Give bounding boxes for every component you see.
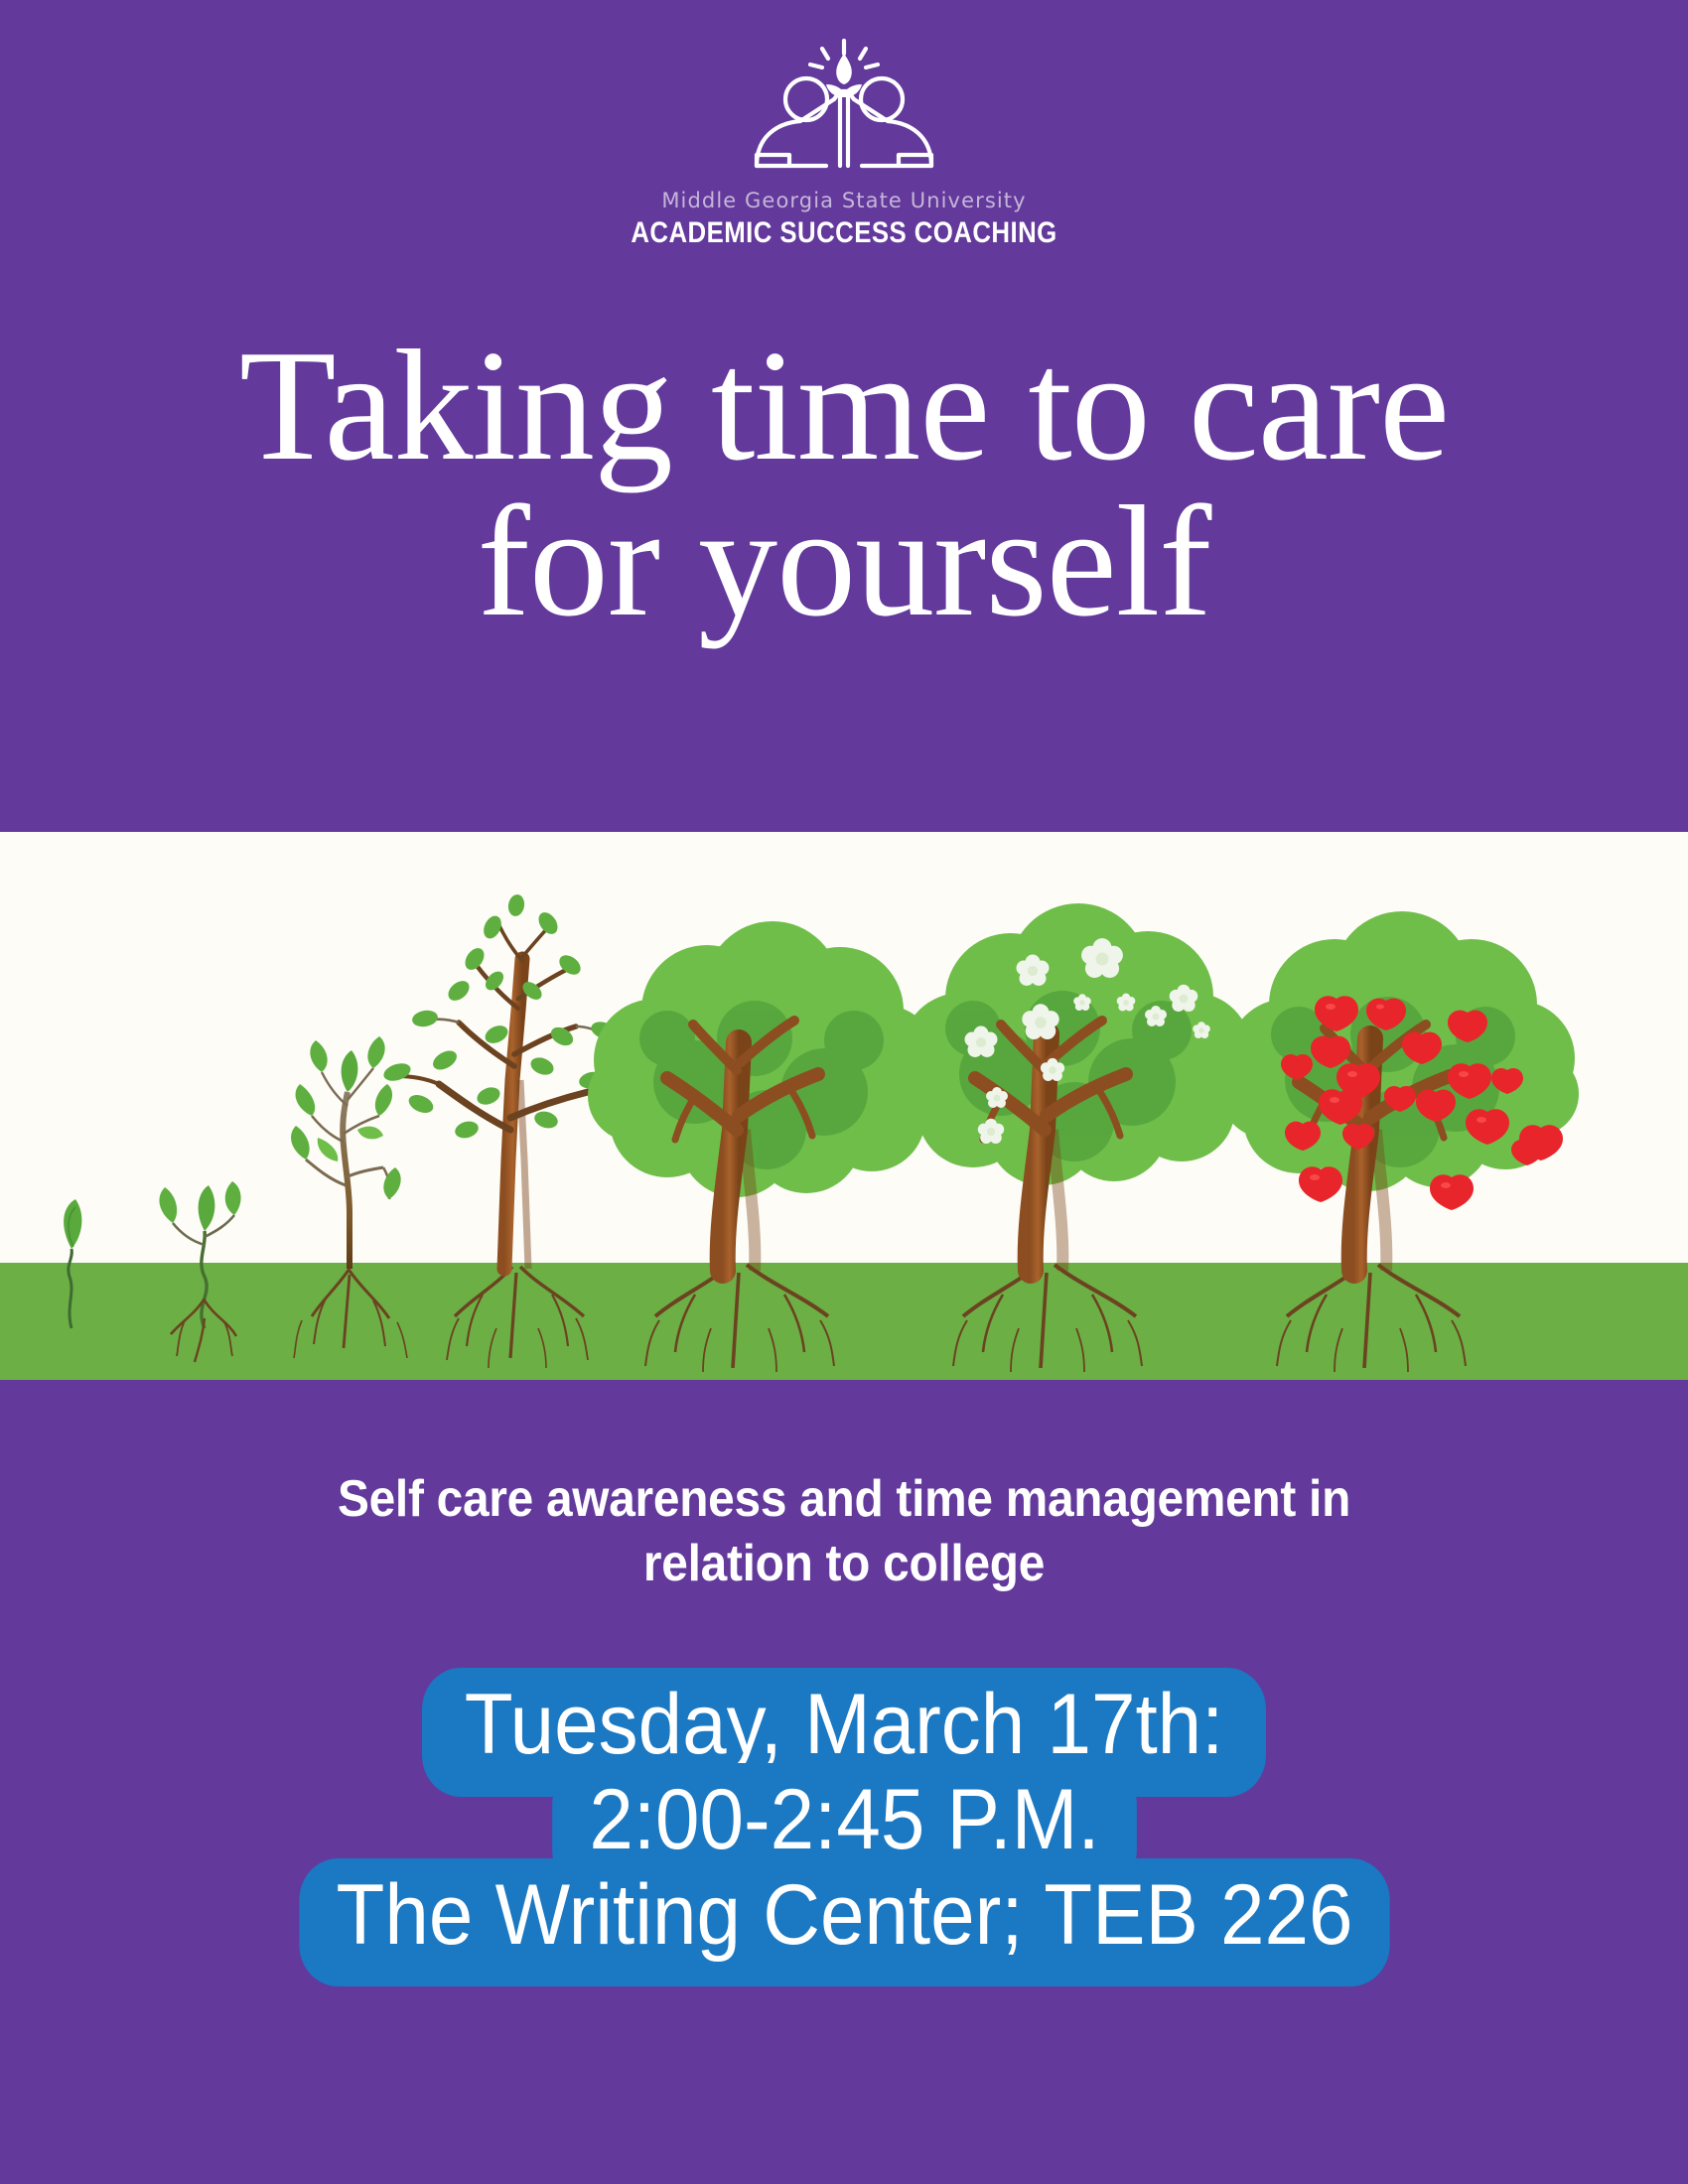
tree-stage-sapling — [291, 1036, 407, 1358]
poster: Middle Georgia State University ACADEMIC… — [0, 0, 1688, 2184]
subtitle-line-2: relation to college — [278, 1532, 1411, 1596]
event-location-chip: The Writing Center; TEB 226 — [299, 1858, 1389, 1987]
poster-title: Taking time to care for yourself — [0, 328, 1688, 639]
tree-stage-fruit-tree — [1221, 911, 1579, 1372]
title-line-2: for yourself — [0, 483, 1688, 639]
poster-subtitle: Self care awareness and time management … — [278, 1467, 1411, 1596]
two-people-high-five-with-flame-icon — [715, 38, 973, 187]
tree-stage-blossom-tree — [896, 903, 1253, 1372]
tree-growth-illustration — [0, 832, 1688, 1380]
tree-stage-mature-tree — [588, 921, 943, 1372]
tree-stage-seedling — [159, 1181, 240, 1362]
tree-stage-young-tree — [381, 893, 635, 1368]
subtitle-line-1: Self care awareness and time management … — [278, 1467, 1411, 1532]
tree-stage-sprout — [64, 1199, 81, 1328]
logo-department-name: ACADEMIC SUCCESS COACHING — [118, 216, 1570, 250]
title-line-1: Taking time to care — [0, 328, 1688, 483]
event-details: Tuesday, March 17th: 2:00-2:45 P.M. The … — [0, 1668, 1688, 1986]
logo-university-name: Middle Georgia State University — [0, 189, 1688, 212]
event-location-line: The Writing Center; TEB 226 — [0, 1858, 1688, 1987]
logo-block: Middle Georgia State University ACADEMIC… — [0, 38, 1688, 250]
